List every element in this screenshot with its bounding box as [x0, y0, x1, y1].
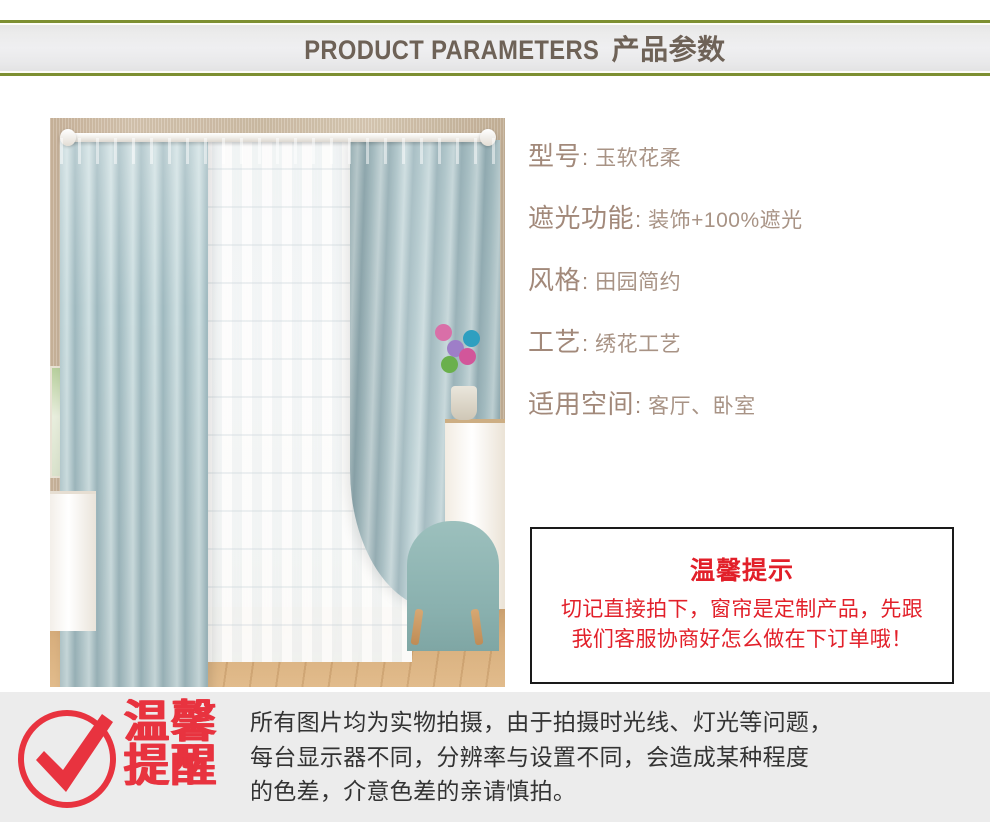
parameter-colon: : [581, 331, 595, 357]
notice-line-2: 每台显示器不同，分辨率与设置不同，会造成某种程度 [250, 740, 833, 775]
notice-badge-line-1: 温馨 [124, 700, 218, 744]
product-photo-scene [50, 118, 505, 687]
page-title-en: PRODUCT PARAMETERS [305, 35, 600, 66]
scene-dresser [50, 491, 96, 631]
warm-tip-body: 切记直接拍下，窗帘是定制产品，先跟 我们客服协商好怎么做在下订单哦！ [561, 595, 923, 655]
parameter-row-space: 适用空间 : 客厅、卧室 [528, 384, 958, 446]
parameter-row-blackout: 遮光功能 : 装饰+100%遮光 [528, 198, 958, 260]
warm-tip-box: 温馨提示 切记直接拍下，窗帘是定制产品，先跟 我们客服协商好怎么做在下订单哦！ [530, 527, 954, 684]
section-header-banner: PRODUCT PARAMETERS 产品参数 [0, 20, 990, 76]
notice-badge-text: 温馨 提醒 [124, 700, 218, 788]
parameter-value: 田园简约 [595, 266, 681, 296]
product-photo[interactable] [50, 118, 505, 687]
parameter-value: 玉软花柔 [595, 142, 681, 172]
warm-tip-title: 温馨提示 [690, 551, 794, 587]
parameter-colon: : [634, 393, 648, 419]
parameter-row-style: 风格 : 田园简约 [528, 260, 958, 322]
parameter-colon: : [634, 207, 648, 233]
scene-curtain-pleats [60, 138, 500, 164]
parameter-label: 工艺 [528, 322, 581, 359]
notice-line-3: 的色差，介意色差的亲请慎拍。 [250, 774, 833, 809]
parameter-value: 装饰+100%遮光 [648, 204, 802, 234]
warm-tip-line-2: 我们客服协商好怎么做在下订单哦！ [561, 625, 923, 655]
parameter-colon: : [581, 145, 595, 171]
parameter-value: 绣花工艺 [595, 328, 681, 358]
product-parameters-page: PRODUCT PARAMETERS 产品参数 [0, 0, 990, 822]
warm-tip-line-1: 切记直接拍下，窗帘是定制产品，先跟 [561, 595, 923, 625]
page-title: PRODUCT PARAMETERS 产品参数 [264, 28, 725, 68]
notice-badge: 温馨 提醒 [0, 692, 250, 822]
parameter-row-model: 型号 : 玉软花柔 [528, 136, 958, 198]
page-title-cn: 产品参数 [612, 28, 726, 68]
parameter-row-craft: 工艺 : 绣花工艺 [528, 322, 958, 384]
scene-armchair [407, 521, 499, 651]
parameter-value: 客厅、卧室 [648, 390, 756, 420]
parameter-label: 遮光功能 [528, 198, 634, 235]
parameter-list: 型号 : 玉软花柔 遮光功能 : 装饰+100%遮光 风格 : 田园简约 工艺 … [528, 136, 958, 446]
check-circle-icon [14, 704, 120, 810]
notice-badge-line-2: 提醒 [124, 744, 218, 788]
parameter-label: 适用空间 [528, 384, 634, 421]
parameter-colon: : [581, 269, 595, 295]
notice-line-1: 所有图片均为实物拍摄，由于拍摄时光线、灯光等问题， [250, 705, 833, 740]
scene-flowers [433, 318, 487, 394]
notice-paragraph: 所有图片均为实物拍摄，由于拍摄时光线、灯光等问题， 每台显示器不同，分辨率与设置… [250, 705, 857, 810]
parameter-label: 型号 [528, 136, 581, 173]
parameter-label: 风格 [528, 260, 581, 297]
color-difference-notice-bar: 温馨 提醒 所有图片均为实物拍摄，由于拍摄时光线、灯光等问题， 每台显示器不同，… [0, 692, 990, 822]
